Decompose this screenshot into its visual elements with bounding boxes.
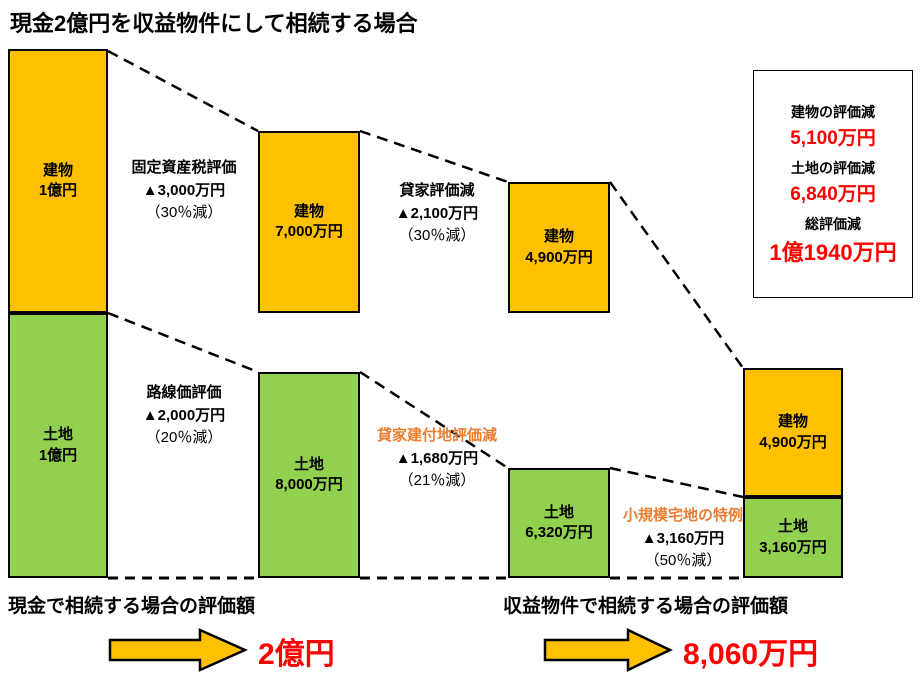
footer-cash-label: 現金で相続する場合の評価額 — [8, 591, 255, 618]
bar-col3-land-label: 土地 — [544, 503, 574, 523]
annotation-land-step3-amount: ▲3,160万円 — [608, 528, 758, 551]
annotation-land-step1-heading: 路線価評価 — [113, 382, 255, 405]
bar-col3-building-label: 建物 — [544, 227, 574, 247]
annotation-building-step1-percent: （30％減） — [113, 202, 255, 225]
bar-col1-land: 土地 1億円 — [8, 313, 108, 578]
summary-land-reduction-label: 土地の評価減 — [791, 158, 875, 178]
cash-arrow-icon — [108, 628, 248, 672]
bar-col4-building: 建物 4,900万円 — [743, 368, 843, 497]
summary-box: 建物の評価減 5,100万円 土地の評価減 6,840万円 総評価減 1億194… — [753, 70, 913, 298]
summary-building-reduction-value: 5,100万円 — [790, 123, 876, 150]
diagram-canvas: 現金2億円を収益物件にして相続する場合 建物 1億円 土地 1億円 建物 7,0… — [0, 0, 924, 678]
annotation-land-step1-percent: （20％減） — [113, 427, 255, 450]
bar-col1-building-label: 建物 — [43, 161, 73, 181]
annotation-building-step2-percent: （30％減） — [366, 225, 508, 248]
bar-col4-building-value: 4,900万円 — [759, 433, 827, 453]
bar-col1-land-label: 土地 — [43, 425, 73, 445]
annotation-building-step1-heading: 固定資産税評価 — [113, 157, 255, 180]
annotation-land-step1: 路線価評価 ▲2,000万円 （20％減） — [113, 382, 255, 450]
annotation-building-step1-amount: ▲3,000万円 — [113, 180, 255, 203]
bar-col1-building-value: 1億円 — [39, 181, 77, 201]
annotation-land-step1-amount: ▲2,000万円 — [113, 405, 255, 428]
annotation-land-step2-heading: 貸家建付地評価減 — [362, 425, 512, 448]
summary-land-reduction-value: 6,840万円 — [790, 179, 876, 206]
bar-col1-building: 建物 1億円 — [8, 49, 108, 313]
bar-col3-building-value: 4,900万円 — [525, 248, 593, 268]
bar-col2-building: 建物 7,000万円 — [258, 131, 360, 313]
annotation-building-step2-heading: 貸家評価減 — [366, 180, 508, 203]
summary-total-reduction-label: 総評価減 — [805, 214, 861, 234]
bar-col2-land: 土地 8,000万円 — [258, 372, 360, 578]
annotation-building-step2: 貸家評価減 ▲2,100万円 （30％減） — [366, 180, 508, 248]
annotation-land-step3-percent: （50％減） — [608, 550, 758, 573]
bar-col2-building-value: 7,000万円 — [275, 222, 343, 242]
annotation-land-step2-percent: （21％減） — [362, 470, 512, 493]
bar-col4-land-value: 3,160万円 — [759, 538, 827, 558]
bar-col4-building-label: 建物 — [778, 412, 808, 432]
footer-property-value: 8,060万円 — [683, 629, 818, 673]
summary-total-reduction-value: 1億1940万円 — [769, 235, 896, 267]
bar-col3-land-value: 6,320万円 — [525, 523, 593, 543]
footer-property-label: 収益物件で相続する場合の評価額 — [503, 591, 788, 618]
annotation-land-step2-amount: ▲1,680万円 — [362, 448, 512, 471]
bar-col3-building: 建物 4,900万円 — [508, 182, 610, 313]
annotation-building-step1: 固定資産税評価 ▲3,000万円 （30％減） — [113, 157, 255, 225]
annotation-building-step2-amount: ▲2,100万円 — [366, 203, 508, 226]
bar-col4-land: 土地 3,160万円 — [743, 497, 843, 578]
bar-col2-land-label: 土地 — [294, 455, 324, 475]
annotation-land-step3-heading: 小規模宅地の特例 — [608, 505, 758, 528]
bar-col1-land-value: 1億円 — [39, 446, 77, 466]
annotation-land-step2: 貸家建付地評価減 ▲1,680万円 （21％減） — [362, 425, 512, 493]
bar-col2-land-value: 8,000万円 — [275, 475, 343, 495]
bar-col3-land: 土地 6,320万円 — [508, 468, 610, 578]
summary-building-reduction-label: 建物の評価減 — [791, 102, 875, 122]
property-arrow-icon — [543, 628, 673, 672]
footer-cash-value: 2億円 — [258, 629, 335, 673]
bar-col2-building-label: 建物 — [294, 202, 324, 222]
page-title: 現金2億円を収益物件にして相続する場合 — [10, 6, 418, 38]
bar-col4-land-label: 土地 — [778, 517, 808, 537]
annotation-land-step3: 小規模宅地の特例 ▲3,160万円 （50％減） — [608, 505, 758, 573]
